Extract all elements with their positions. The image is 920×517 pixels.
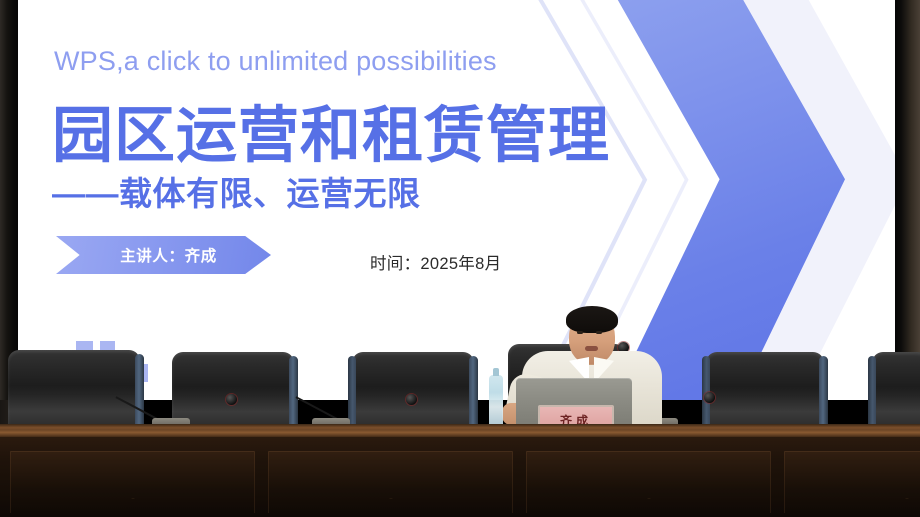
screen-bezel-left: [0, 0, 18, 400]
table-panel-1: [10, 451, 255, 513]
speaker-eye-right: [596, 331, 602, 334]
chair-side-trim: [135, 354, 144, 435]
screen-bezel-right: [895, 0, 920, 400]
speaker-eye-left: [577, 331, 583, 334]
microphone-head: [704, 392, 715, 403]
speaker-hair: [566, 306, 618, 333]
speaker-mouth: [585, 346, 598, 351]
microphone-head: [226, 394, 237, 405]
slide-eyebrow: WPS,a click to unlimited possibilities: [54, 46, 497, 77]
microphone-head: [406, 394, 417, 405]
chair-back: [8, 350, 140, 435]
table-panel-2: [268, 451, 513, 513]
conference-table: [0, 437, 920, 517]
table-panel-4: [784, 451, 920, 513]
slide-content: WPS,a click to unlimited possibilities 园…: [18, 0, 895, 400]
slide-subtitle: ——载体有限、运营无限: [52, 176, 421, 212]
conference-room-screenshot: WPS,a click to unlimited possibilities 园…: [0, 0, 920, 517]
slide-date-label: 时间：2025年8月: [370, 250, 501, 274]
speaker-banner-label: 主讲人：齐成: [120, 244, 217, 266]
table-panel-3: [526, 451, 771, 513]
speaker-banner: 主讲人：齐成: [56, 236, 271, 274]
slide-title: 园区运营和租赁管理: [52, 104, 610, 166]
chair-6: [872, 352, 920, 435]
chair-1: [8, 350, 140, 435]
projection-screen: WPS,a click to unlimited possibilities 园…: [18, 0, 895, 400]
chair-back: [872, 352, 920, 435]
